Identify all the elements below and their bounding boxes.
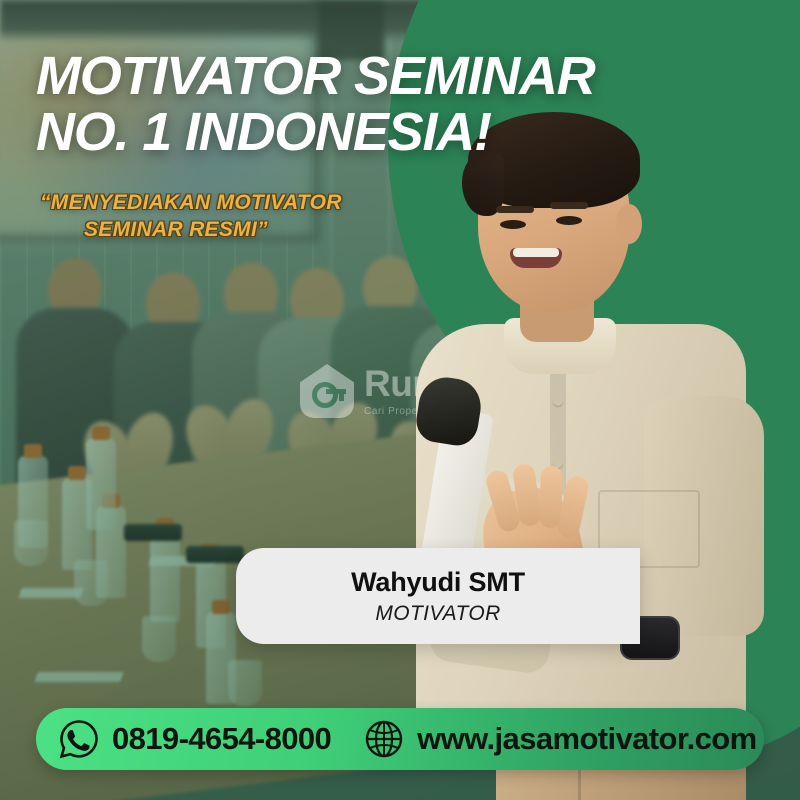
whatsapp-contact[interactable]: 0819-4654-8000 bbox=[58, 718, 331, 760]
subheadline-line-1: “MENYEDIAKAN MOTIVATOR bbox=[40, 191, 342, 214]
phone-number: 0819-4654-8000 bbox=[112, 721, 331, 757]
speaker-eye bbox=[556, 216, 582, 225]
speaker-name-card: Wahyudi SMT MOTIVATOR bbox=[236, 548, 640, 644]
whatsapp-icon bbox=[58, 718, 100, 760]
speaker-ear bbox=[616, 204, 642, 244]
speaker-eyebrow bbox=[550, 202, 588, 209]
headline-line-2: NO. 1 INDONESIA! bbox=[36, 104, 656, 160]
headline-line-1: MOTIVATOR SEMINAR bbox=[36, 46, 595, 106]
website-contact[interactable]: www.jasamotivator.com bbox=[363, 718, 756, 760]
shirt-button bbox=[553, 396, 563, 406]
speaker-mouth bbox=[510, 248, 562, 268]
subheadline: “MENYEDIAKAN MOTIVATOR SEMINAR RESMI” bbox=[40, 190, 510, 244]
page-title: MOTIVATOR SEMINAR NO. 1 INDONESIA! bbox=[36, 48, 656, 160]
contact-bar: 0819-4654-8000 www.jasamotivator.com bbox=[36, 708, 764, 770]
promotional-banner: Rumaincar Cari Properti Tanpa Ribet bbox=[0, 0, 800, 800]
subheadline-line-2: SEMINAR RESMI” bbox=[40, 217, 510, 244]
house-key-icon bbox=[300, 364, 354, 418]
speaker-role: MOTIVATOR bbox=[375, 602, 500, 626]
globe-icon bbox=[363, 718, 405, 760]
website-url: www.jasamotivator.com bbox=[417, 721, 756, 757]
speaker-name: Wahyudi SMT bbox=[351, 567, 525, 598]
